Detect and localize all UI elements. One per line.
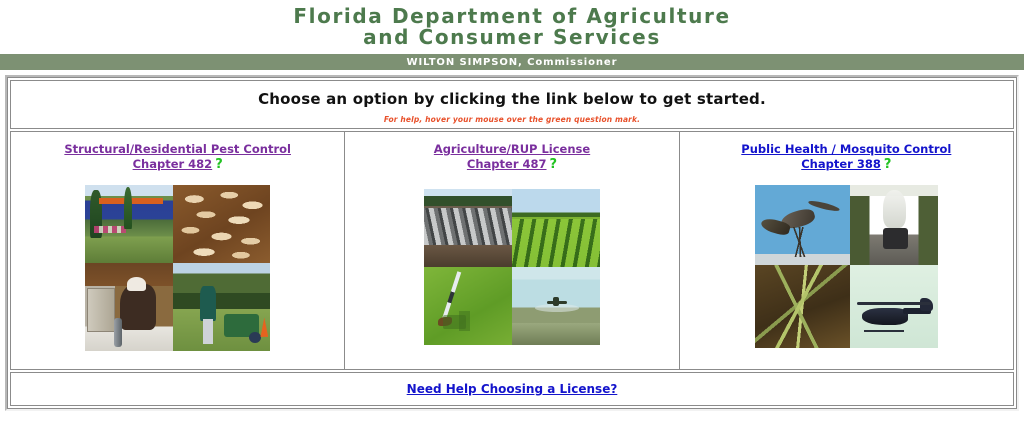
image-building-landscape-photo <box>85 185 173 263</box>
help-hint-text: For help, hover your mouse over the gree… <box>11 115 1013 124</box>
page-title: Florida Department of Agriculture and Co… <box>0 6 1024 48</box>
option-1-line-1[interactable]: Structural/Residential Pest Control <box>64 142 291 156</box>
masthead: Florida Department of Agriculture and Co… <box>0 0 1024 48</box>
commissioner-name: WILTON SIMPSON, Commissioner <box>407 57 618 68</box>
collage-structural-pest-control <box>85 185 270 351</box>
help-question-mark-icon[interactable]: ? <box>884 157 892 172</box>
main-content-table: Choose an option by clicking the link be… <box>5 75 1019 411</box>
option-3-line-1[interactable]: Public Health / Mosquito Control <box>741 142 951 156</box>
image-turf-irrigation-sprinkler-photo <box>424 267 512 345</box>
help-question-mark-icon[interactable]: ? <box>550 157 558 172</box>
image-marsh-grass-water-photo <box>755 265 850 348</box>
license-options-row: Structural/Residential Pest Control Chap… <box>10 131 1014 370</box>
image-technician-under-sink-photo <box>85 263 173 351</box>
help-question-mark-icon[interactable]: ? <box>215 157 223 172</box>
image-crop-rows-green-field-photo <box>512 189 600 267</box>
collage-mosquito-control <box>755 185 938 348</box>
image-termites-closeup-photo <box>173 185 270 263</box>
option-cell-agriculture-rup-license[interactable]: Agriculture/RUP License Chapter 487? <box>345 132 679 369</box>
collage-agriculture-rup <box>424 189 600 345</box>
link-structural-residential-pest-control[interactable]: Structural/Residential Pest Control Chap… <box>64 142 291 172</box>
link-public-health-mosquito-control[interactable]: Public Health / Mosquito Control Chapter… <box>741 142 951 172</box>
image-crop-duster-airplane-photo <box>512 267 600 345</box>
image-fogging-truck-photo <box>850 185 938 265</box>
main-content-frame: Choose an option by clicking the link be… <box>7 77 1017 409</box>
option-2-line-1[interactable]: Agriculture/RUP License <box>434 142 590 156</box>
instruction-headline: Choose an option by clicking the link be… <box>11 90 1013 108</box>
option-cell-structural-residential-pest-control[interactable]: Structural/Residential Pest Control Chap… <box>11 132 345 369</box>
footer-row: Need Help Choosing a License? <box>10 372 1014 406</box>
commissioner-banner: WILTON SIMPSON, Commissioner <box>0 54 1024 72</box>
link-agriculture-rup-license[interactable]: Agriculture/RUP License Chapter 487? <box>434 142 590 172</box>
option-2-line-2[interactable]: Chapter 487 <box>467 157 547 171</box>
instruction-row: Choose an option by clicking the link be… <box>10 80 1014 129</box>
image-mosquito-closeup-photo <box>755 185 850 265</box>
need-help-choosing-license-link[interactable]: Need Help Choosing a License? <box>407 382 618 396</box>
image-lawn-spreader-technician-photo <box>173 263 270 351</box>
option-3-line-2[interactable]: Chapter 388 <box>801 157 881 171</box>
image-plasticulture-field-rows-photo <box>424 189 512 267</box>
option-1-line-2[interactable]: Chapter 482 <box>133 157 213 171</box>
image-mosquito-control-helicopter-photo <box>850 265 938 348</box>
option-cell-public-health-mosquito-control[interactable]: Public Health / Mosquito Control Chapter… <box>680 132 1013 369</box>
